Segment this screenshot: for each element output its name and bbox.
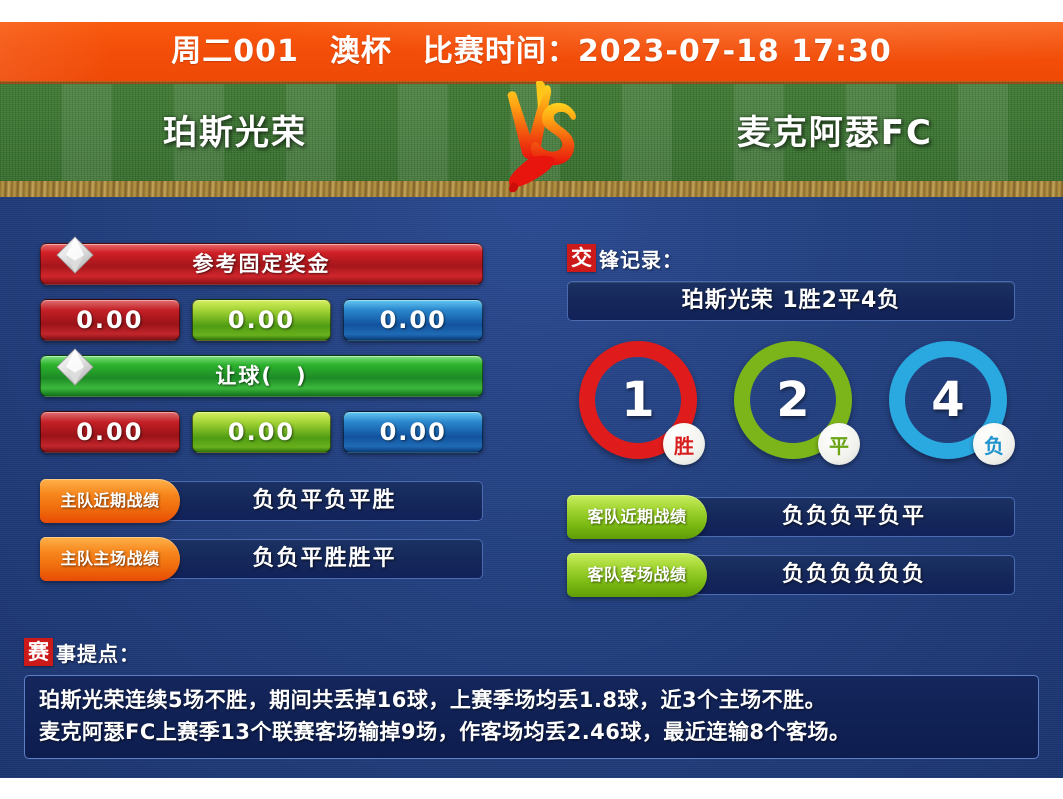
analysis-box: 珀斯光荣连续5场不胜，期间共丢掉16球，上赛季场均丢1.8球，近3个主场不胜。 … [24, 675, 1039, 759]
home-recent-form-row: 负负平负平胜 主队近期战绩 [40, 479, 483, 523]
handicap-home[interactable]: 0.00 [40, 411, 180, 453]
handicap-draw[interactable]: 0.00 [192, 411, 332, 453]
analysis-chip: 赛 [24, 638, 53, 666]
head-to-head-summary: 珀斯光荣 1胜2平4负 [567, 281, 1015, 321]
teams-banner: 珀斯光荣 麦克阿瑟FC [0, 81, 1063, 197]
fixed-odds-values: 0.00 0.00 0.00 [40, 299, 483, 341]
analysis-section: 赛 事提点： 珀斯光荣连续5场不胜，期间共丢掉16球，上赛季场均丢1.8球，近3… [24, 637, 1039, 759]
header-bar: 周二001 澳杯 比赛时间：2023-07-18 17:30 [0, 22, 1063, 81]
match-preview-card: 周二001 澳杯 比赛时间：2023-07-18 17:30 珀斯光荣 [0, 0, 1063, 799]
page-title: 周二001 澳杯 比赛时间：2023-07-18 17:30 [0, 22, 1063, 81]
odds-column: 参考固定奖金 0.00 0.00 0.00 [40, 243, 483, 595]
head-to-head-rings: 1 胜 2 平 4 负 [567, 341, 1015, 459]
away-away-form-value: 负负负负负负 [693, 555, 1015, 595]
away-away-form-row: 负负负负负负 客队客场战绩 [567, 553, 1015, 597]
handicap-title: 让球( ) [41, 356, 482, 396]
wins-ring: 1 胜 [579, 341, 697, 459]
draws-badge: 平 [818, 423, 860, 465]
away-form-block: 负负负平负平 客队近期战绩 负负负负负负 客队客场战绩 [567, 495, 1015, 597]
fixed-odds-header: 参考固定奖金 [40, 243, 483, 285]
handicap-header: 让球( ) [40, 355, 483, 397]
home-home-form-label: 主队主场战绩 [40, 537, 180, 581]
analysis-header: 赛 事提点： [24, 637, 1039, 667]
home-form-block: 负负平负平胜 主队近期战绩 负负平胜胜平 主队主场战绩 [40, 479, 483, 581]
head-to-head-column: 交 锋记录： 珀斯光荣 1胜2平4负 1 胜 2 平 4 [567, 243, 1015, 611]
wins-badge: 胜 [663, 423, 705, 465]
home-recent-form-value: 负负平负平胜 [166, 481, 483, 521]
fixed-odds-away[interactable]: 0.00 [343, 299, 483, 341]
diamond-gem-icon [55, 235, 95, 275]
fixed-odds-home[interactable]: 0.00 [40, 299, 180, 341]
analysis-title: 事提点： [56, 638, 140, 667]
handicap-values: 0.00 0.00 0.00 [40, 411, 483, 453]
fixed-odds-title: 参考固定奖金 [41, 244, 482, 284]
away-recent-form-value: 负负负平负平 [693, 497, 1015, 537]
handicap-away[interactable]: 0.00 [343, 411, 483, 453]
fixed-odds-draw[interactable]: 0.00 [192, 299, 332, 341]
away-recent-form-label: 客队近期战绩 [567, 495, 707, 539]
losses-badge: 负 [973, 423, 1015, 465]
losses-ring: 4 负 [889, 341, 1007, 459]
head-to-head-header: 交 锋记录： [567, 243, 1015, 273]
home-home-form-value: 负负平胜胜平 [166, 539, 483, 579]
home-team-name: 珀斯光荣 [163, 105, 307, 154]
vs-flame-icon [486, 81, 586, 197]
away-away-form-label: 客队客场战绩 [567, 553, 707, 597]
analysis-line-2: 麦克阿瑟FC上赛季13个联赛客场输掉9场，作客场均丢2.46球，最近连输8个客场… [39, 716, 1024, 748]
analysis-line-1: 珀斯光荣连续5场不胜，期间共丢掉16球，上赛季场均丢1.8球，近3个主场不胜。 [39, 684, 1024, 716]
content-panel: 参考固定奖金 0.00 0.00 0.00 [0, 197, 1063, 778]
away-team-name: 麦克阿瑟FC [737, 105, 933, 154]
home-recent-form-label: 主队近期战绩 [40, 479, 180, 523]
draws-ring: 2 平 [734, 341, 852, 459]
head-to-head-chip: 交 [567, 244, 596, 272]
diamond-gem-icon [55, 347, 95, 387]
head-to-head-title: 锋记录： [599, 244, 683, 273]
home-home-form-row: 负负平胜胜平 主队主场战绩 [40, 537, 483, 581]
away-recent-form-row: 负负负平负平 客队近期战绩 [567, 495, 1015, 539]
